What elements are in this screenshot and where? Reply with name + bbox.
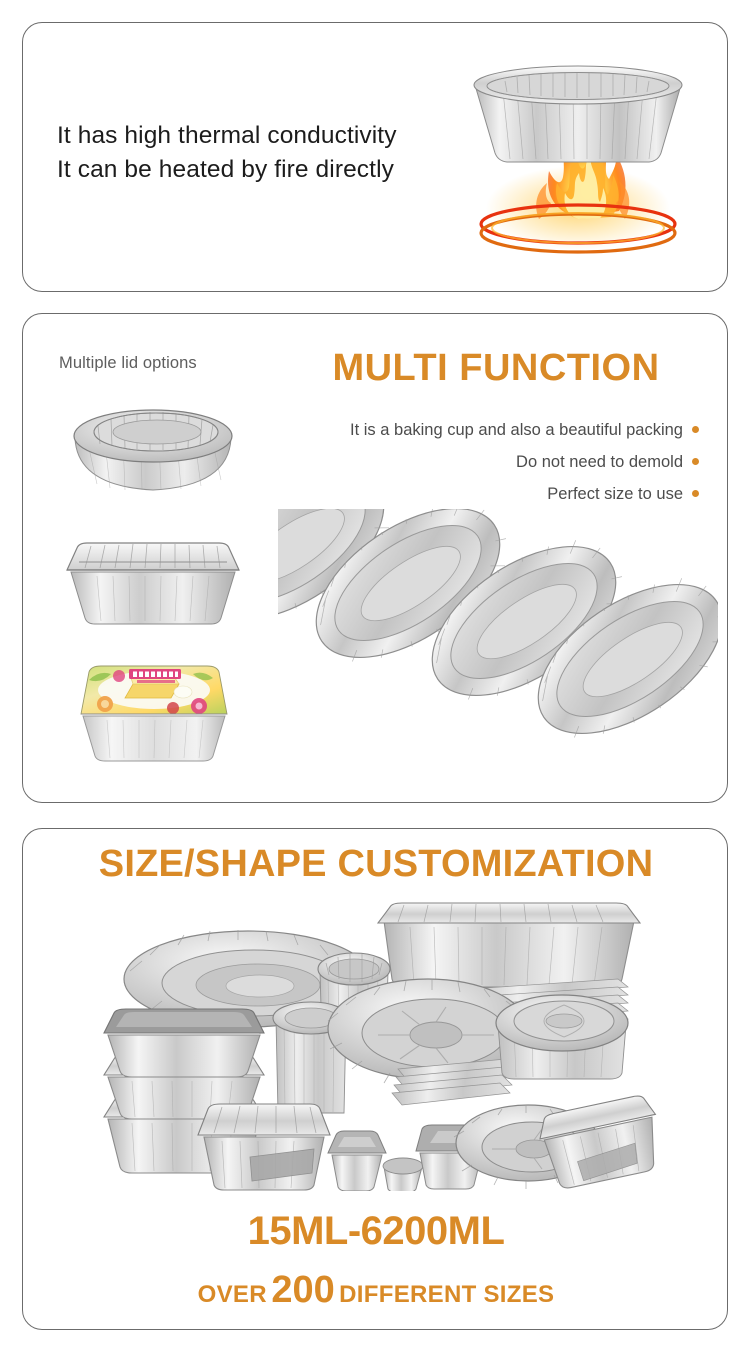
thermal-text-block: It has high thermal conductivity It can … bbox=[57, 119, 397, 187]
bullet-dot-icon bbox=[692, 458, 699, 465]
bullet-item: Do not need to demold bbox=[269, 446, 699, 478]
bullet-item: Perfect size to use bbox=[269, 478, 699, 510]
sizes-prefix: OVER bbox=[198, 1281, 267, 1308]
size-shape-customization-panel: SIZE/SHAPE CUSTOMIZATION bbox=[22, 828, 728, 1330]
sizes-count: 200 bbox=[271, 1269, 334, 1311]
assorted-foil-containers-collage bbox=[98, 901, 658, 1191]
thermal-line-1: It has high thermal conductivity bbox=[57, 119, 397, 153]
multi-function-bullet-list: It is a baking cup and also a beautiful … bbox=[269, 414, 699, 510]
multi-function-panel: Multiple lid options MULTI FUNCTION It i… bbox=[22, 313, 728, 803]
product-detail-page: It has high thermal conductivity It can … bbox=[0, 0, 750, 1349]
lid-option-round-container bbox=[53, 386, 253, 504]
lid-options-column bbox=[53, 386, 273, 782]
bullet-dot-icon bbox=[692, 426, 699, 433]
lid-option-printed-lid bbox=[53, 650, 253, 768]
bullet-item: It is a baking cup and also a beautiful … bbox=[269, 414, 699, 446]
bullet-text: Do not need to demold bbox=[516, 453, 683, 471]
sizes-count-line: OVER 200 DIFFERENT SIZES bbox=[23, 1269, 728, 1312]
sizes-suffix: DIFFERENT SIZES bbox=[339, 1281, 554, 1308]
stacked-foil-containers-illustration bbox=[278, 509, 718, 789]
size-shape-title: SIZE/SHAPE CUSTOMIZATION bbox=[23, 843, 728, 886]
bullet-dot-icon bbox=[692, 490, 699, 497]
foil-tray-over-fire-illustration bbox=[453, 43, 703, 273]
thermal-conductivity-panel: It has high thermal conductivity It can … bbox=[22, 22, 728, 292]
bullet-text: Perfect size to use bbox=[547, 485, 683, 503]
multiple-lid-options-label: Multiple lid options bbox=[59, 354, 197, 373]
volume-range-text: 15ML-6200ML bbox=[23, 1209, 728, 1254]
multi-function-title: MULTI FUNCTION bbox=[293, 346, 699, 390]
thermal-line-2: It can be heated by fire directly bbox=[57, 153, 397, 187]
bullet-text: It is a baking cup and also a beautiful … bbox=[350, 421, 683, 439]
lid-option-rect-foil-lid bbox=[53, 518, 253, 636]
